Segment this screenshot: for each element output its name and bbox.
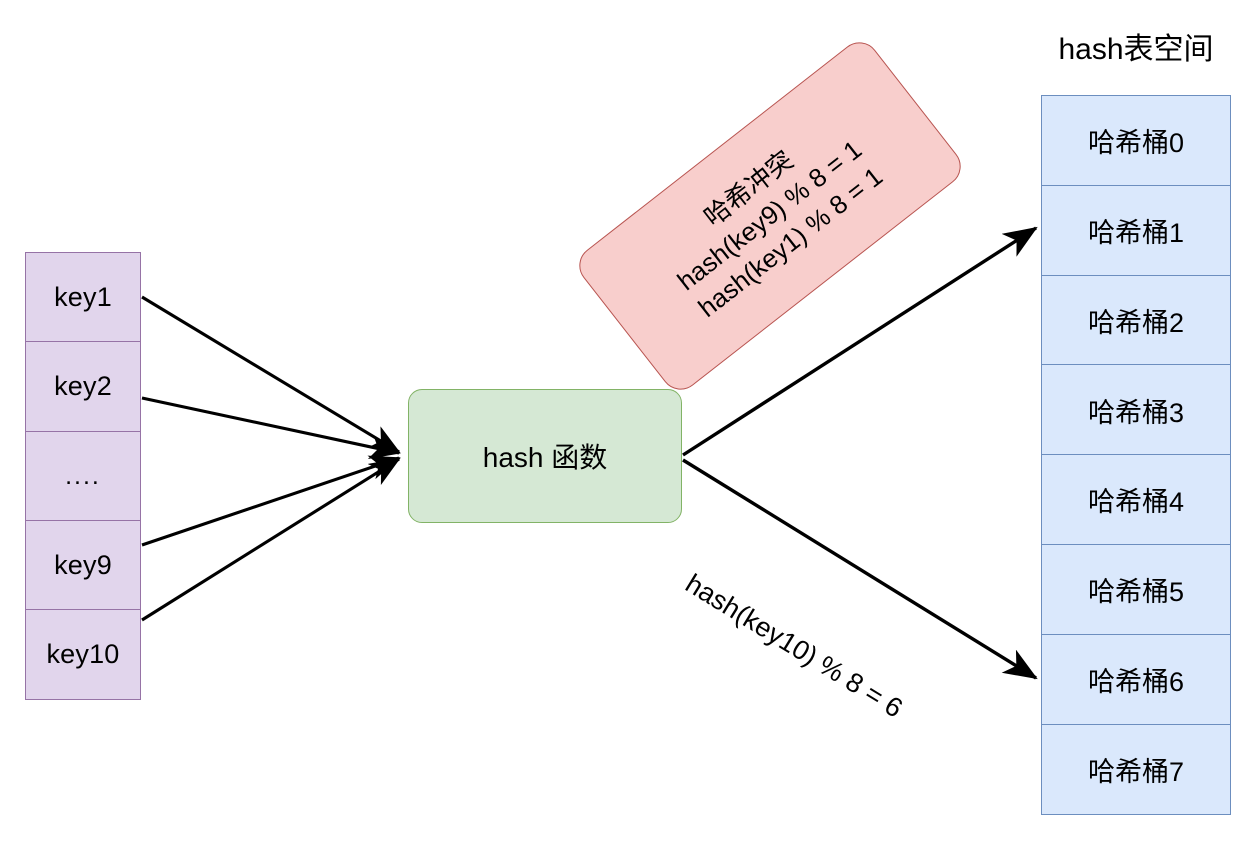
key-cell[interactable]: key10 [25, 609, 141, 700]
key-cell[interactable]: key2 [25, 341, 141, 432]
bucket-cell[interactable]: 哈希桶2 [1041, 275, 1231, 366]
edge-key9-to-hash [142, 458, 399, 545]
edge-label-key10-mapping: hash(key10) % 8 = 6 [680, 568, 908, 724]
bucket-cell[interactable]: 哈希桶3 [1041, 364, 1231, 455]
edge-key2-to-hash [142, 398, 399, 453]
diagram-canvas: key1 key2 .... key9 key10 hash 函数 哈希冲突 h… [0, 0, 1255, 850]
edge-key10-to-hash [142, 459, 399, 620]
bucket-cell[interactable]: 哈希桶7 [1041, 724, 1231, 815]
hash-collision-callout[interactable]: 哈希冲突 hash(key9) % 8 = 1 hash(key1) % 8 =… [571, 34, 968, 397]
hash-function-node[interactable]: hash 函数 [408, 389, 682, 523]
edge-key1-to-hash [142, 297, 399, 452]
hash-table: 哈希桶0 哈希桶1 哈希桶2 哈希桶3 哈希桶4 哈希桶5 哈希桶6 哈希桶7 [1041, 95, 1231, 815]
key-cell[interactable]: key9 [25, 520, 141, 611]
bucket-cell[interactable]: 哈希桶0 [1041, 95, 1231, 186]
bucket-cell[interactable]: 哈希桶4 [1041, 454, 1231, 545]
key-cell-ellipsis: .... [25, 431, 141, 522]
bucket-cell[interactable]: 哈希桶6 [1041, 634, 1231, 725]
hash-function-label: hash 函数 [483, 436, 608, 476]
bucket-cell[interactable]: 哈希桶1 [1041, 185, 1231, 276]
bucket-cell[interactable]: 哈希桶5 [1041, 544, 1231, 635]
hash-table-title: hash表空间 [1041, 24, 1231, 68]
key-cell[interactable]: key1 [25, 252, 141, 343]
key-column: key1 key2 .... key9 key10 [25, 252, 141, 700]
edge-hash-to-bucket6 [683, 460, 1036, 678]
